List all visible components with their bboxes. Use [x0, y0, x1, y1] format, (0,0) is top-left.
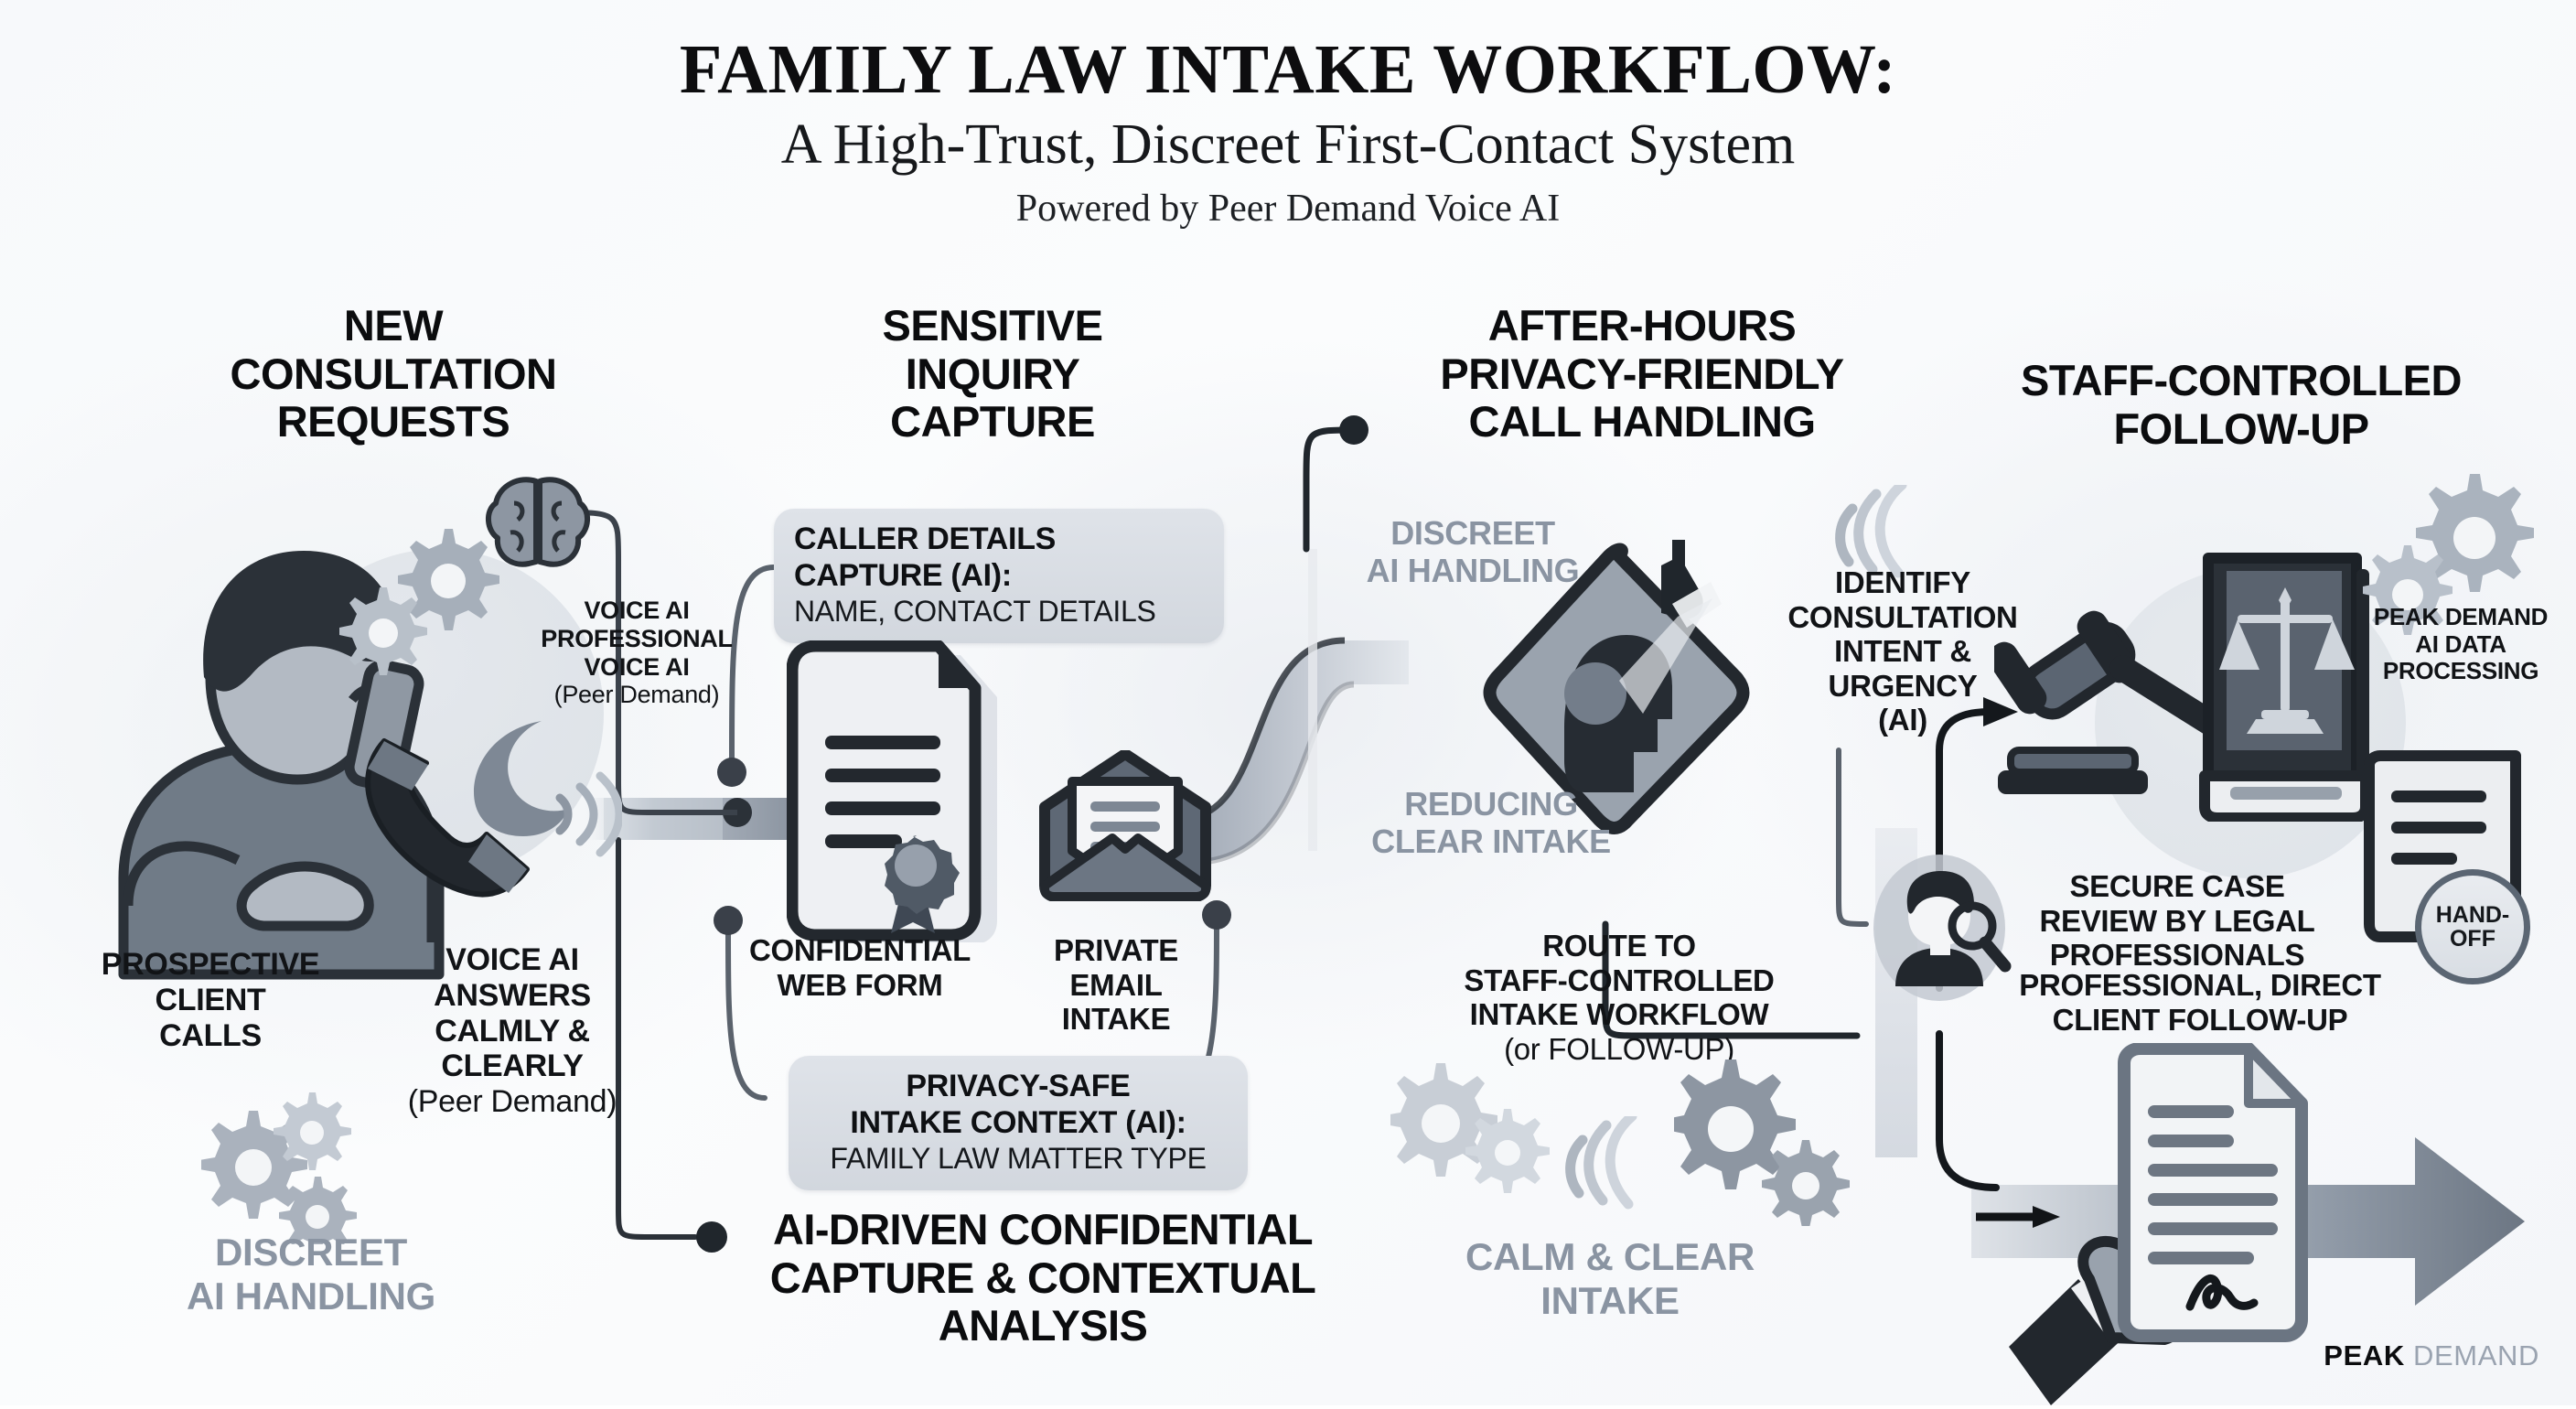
col1-header-line2: CONSULTATION — [156, 350, 631, 399]
page-subtitle: A High-Trust, Discreet First-Contact Sys… — [0, 113, 2576, 177]
reducing-label-line2: CLEAR INTAKE — [1336, 823, 1647, 860]
route-label-line3: INTAKE WORKFLOW — [1427, 997, 1811, 1032]
webform-label-line1: CONFIDENTIAL — [723, 933, 997, 968]
col1-header-line1: NEW — [156, 302, 631, 350]
col2-footer-line1: AI-DRIVEN CONFIDENTIAL — [714, 1206, 1372, 1254]
gears-icon — [1674, 1052, 1857, 1226]
voice-label-line3: CALMLY & — [366, 1014, 659, 1049]
col2-footer-line3: ANALYSIS — [714, 1302, 1372, 1350]
client-label-line2: CLIENT — [55, 983, 366, 1018]
reducing-label-line1: REDUCING — [1336, 785, 1647, 823]
brain-label-line1: VOICE AI — [499, 597, 774, 625]
followup-label-line1: PROFESSIONAL, DIRECT — [2008, 968, 2392, 1003]
column-header-staff-followup: STAFF-CONTROLLED FOLLOW-UP — [1962, 357, 2520, 453]
client-label-line3: CALLS — [55, 1018, 366, 1054]
gears-icon — [1390, 1052, 1573, 1217]
prospective-client-calls-label: PROSPECTIVE CLIENT CALLS — [55, 947, 366, 1053]
col1-footer-line2: AI HANDLING — [137, 1275, 485, 1318]
col2-header-line3: CAPTURE — [773, 398, 1212, 446]
col3-header-line3: CALL HANDLING — [1363, 398, 1921, 446]
route-to-staff-label: ROUTE TO STAFF-CONTROLLED INTAKE WORKFLO… — [1427, 929, 1811, 1066]
col3-header-line1: AFTER-HOURS — [1363, 302, 1921, 350]
reducing-clear-intake-label: REDUCING CLEAR INTAKE — [1336, 785, 1647, 860]
email-label-line3: INTAKE — [1025, 1002, 1207, 1037]
brain-label-line4: (Peer Demand) — [499, 681, 774, 709]
secure-label-line2: REVIEW BY LEGAL — [2008, 904, 2346, 939]
col1-header-line3: REQUESTS — [156, 398, 631, 446]
sound-waves-icon — [1555, 1116, 1656, 1217]
secure-label-line1: SECURE CASE — [2008, 869, 2346, 904]
email-label-line1: PRIVATE — [1025, 933, 1207, 968]
context-pill-line1: PRIVACY-SAFE — [809, 1069, 1228, 1105]
gears-icon — [201, 1089, 366, 1244]
route-label-line1: ROUTE TO — [1427, 929, 1811, 963]
col4-header-line2: FOLLOW-UP — [1962, 405, 2520, 454]
col3-header-line2: PRIVACY-FRIENDLY — [1363, 350, 1921, 399]
voice-ai-answers-label: VOICE AI ANSWERS CALMLY & CLEARLY (Peer … — [366, 942, 659, 1120]
secure-case-review-label: SECURE CASE REVIEW BY LEGAL PROFESSIONAL… — [2008, 869, 2346, 973]
col2-header-line2: INQUIRY — [773, 350, 1212, 399]
peak-label-line1: PEAK DEMAND — [2351, 604, 2571, 631]
voice-label-line2: ANSWERS — [366, 978, 659, 1014]
private-email-intake-label: PRIVATE EMAIL INTAKE — [1025, 933, 1207, 1037]
handoff-line1: HAND- — [2436, 902, 2510, 928]
col2-header-line1: SENSITIVE — [773, 302, 1212, 350]
webform-label-line2: WEB FORM — [723, 968, 997, 1003]
caller-pill-line1: CALLER DETAILS — [794, 522, 1204, 558]
col3-footer-line1: CALM & CLEAR — [1427, 1235, 1793, 1279]
col2-footer-line2: CAPTURE & CONTEXTUAL — [714, 1254, 1372, 1303]
hand-off-badge: HAND- OFF — [2415, 869, 2530, 984]
logo-bold: PEAK — [2324, 1339, 2405, 1371]
certified-document-icon — [787, 640, 1006, 942]
column-header-new-consultation: NEW CONSULTATION REQUESTS — [156, 302, 631, 446]
email-label-line2: EMAIL — [1025, 968, 1207, 1003]
caller-pill-line2: CAPTURE (AI): — [794, 558, 1204, 595]
column-header-sensitive-inquiry: SENSITIVE INQUIRY CAPTURE — [773, 302, 1212, 446]
logo-light: DEMAND — [2413, 1339, 2539, 1371]
infographic-canvas: FAMILY LAW INTAKE WORKFLOW: A High-Trust… — [0, 0, 2576, 1405]
col3-footer-line2: INTAKE — [1427, 1279, 1793, 1323]
confidential-web-form-label: CONFIDENTIAL WEB FORM — [723, 933, 997, 1002]
route-label-line2: STAFF-CONTROLLED — [1427, 963, 1811, 998]
ai-driven-capture-footer: AI-DRIVEN CONFIDENTIAL CAPTURE & CONTEXT… — [714, 1206, 1372, 1350]
page-title: FAMILY LAW INTAKE WORKFLOW: — [0, 33, 2576, 107]
sound-waves-icon — [549, 769, 622, 860]
col1-footer-line1: DISCREET — [137, 1231, 485, 1275]
context-pill-line3: FAMILY LAW MATTER TYPE — [809, 1142, 1228, 1176]
client-label-line1: PROSPECTIVE — [55, 947, 366, 983]
peak-label-line3: PROCESSING — [2351, 658, 2571, 685]
voice-label-line1: VOICE AI — [366, 942, 659, 978]
privacy-safe-context-pill: PRIVACY-SAFE INTAKE CONTEXT (AI): FAMILY… — [789, 1056, 1248, 1190]
followup-label-line2: CLIENT FOLLOW-UP — [2008, 1003, 2392, 1038]
caller-pill-line3: NAME, CONTACT DETAILS — [794, 595, 1204, 629]
title-block: FAMILY LAW INTAKE WORKFLOW: A High-Trust… — [0, 33, 2576, 231]
calm-clear-intake-footer: CALM & CLEAR INTAKE — [1427, 1235, 1793, 1323]
open-envelope-icon — [1034, 750, 1217, 901]
voice-label-line5: (Peer Demand) — [366, 1084, 659, 1120]
column-header-after-hours: AFTER-HOURS PRIVACY-FRIENDLY CALL HANDLI… — [1363, 302, 1921, 446]
col4-header-line1: STAFF-CONTROLLED — [1962, 357, 2520, 405]
brain-label-line3: VOICE AI — [499, 653, 774, 682]
voice-ai-professional-label: VOICE AI PROFESSIONAL VOICE AI (Peer Dem… — [499, 597, 774, 709]
caller-details-capture-pill: CALLER DETAILS CAPTURE (AI): NAME, CONTA… — [774, 509, 1224, 643]
context-pill-line2: INTAKE CONTEXT (AI): — [809, 1105, 1228, 1142]
brain-label-line2: PROFESSIONAL — [499, 625, 774, 653]
professional-direct-followup-label: PROFESSIONAL, DIRECT CLIENT FOLLOW-UP — [2008, 968, 2392, 1037]
peak-label-line2: AI DATA — [2351, 631, 2571, 659]
powered-by-line: Powered by Peer Demand Voice AI — [0, 187, 2576, 231]
agent-magnifier-icon — [1862, 851, 2016, 1005]
discreet-ai-handling-footer: DISCREET AI HANDLING — [137, 1231, 485, 1318]
brain-icon — [483, 474, 593, 575]
peak-demand-ai-data-label: PEAK DEMAND AI DATA PROCESSING — [2351, 604, 2571, 685]
peak-demand-logo: PEAK DEMAND — [2324, 1339, 2539, 1372]
handoff-line2: OFF — [2450, 926, 2495, 952]
voice-label-line4: CLEARLY — [366, 1049, 659, 1084]
